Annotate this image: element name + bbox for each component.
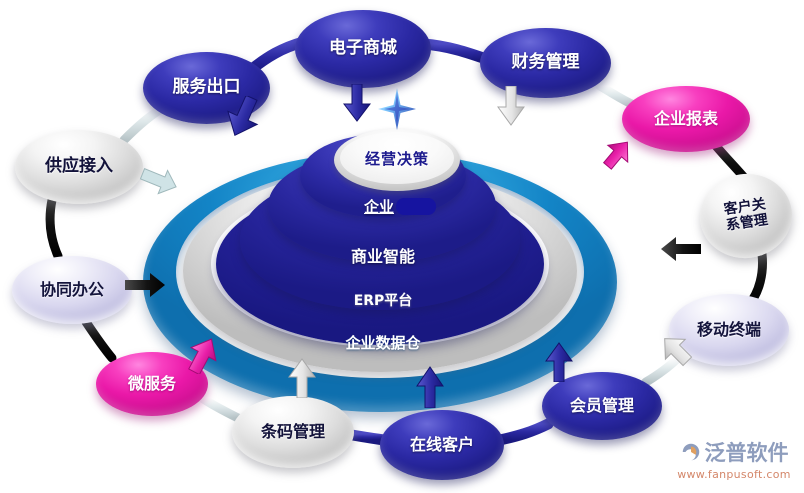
ring-label-enterprise: 企业: [340, 196, 484, 217]
ring-label-enterprise-text: 企业: [364, 198, 394, 216]
arrow-up-icon-from-huiyuanguanli: [545, 342, 573, 382]
watermark: 泛普软件 www.fanpusoft.com: [668, 432, 800, 486]
fanpu-swirl-logo-icon: [680, 441, 702, 463]
arrow-right-icon-from-gongyingjieru: [140, 166, 178, 196]
node-label: 服务出口: [173, 78, 241, 97]
arrow-down-icon-from-dianzishangcheng: [343, 84, 371, 122]
arrow-up-icon-from-zaixiankehu: [416, 366, 444, 408]
watermark-url: www.fanpusoft.com: [677, 468, 791, 481]
arrow-down-left-icon-from-qiyebaobiao: [600, 136, 634, 170]
node-label: 供应接入: [45, 157, 113, 176]
ring-label-bi: 商业智能: [300, 243, 466, 267]
ring-label-erp: ERP平台: [300, 290, 466, 310]
node-label: 电子商城: [329, 39, 397, 58]
node-huiyuanguanli[interactable]: 会员管理: [542, 372, 662, 440]
node-dianzishangcheng[interactable]: 电子商城: [295, 10, 431, 88]
node-label: 会员管理: [570, 397, 634, 415]
node-qiyebaobiao[interactable]: 企业报表: [622, 86, 750, 152]
ring-label-data-warehouse: 企业数据仓: [295, 332, 471, 353]
arrow-left-icon-from-kehuguanxiguanli: [660, 236, 702, 262]
node-label: 企业报表: [654, 110, 718, 128]
redaction-block: [396, 198, 436, 215]
node-label: 财务管理: [512, 53, 580, 72]
arrow-up-right-icon-from-weifuwu: [186, 336, 220, 374]
node-label: 微服务: [128, 375, 176, 393]
arrow-up-left-icon-from-yidongzhongduan: [658, 332, 694, 368]
node-gongyingjieru[interactable]: 供应接入: [15, 130, 143, 204]
node-label: 客户关 系管理: [723, 198, 769, 235]
node-label: 移动终端: [697, 321, 761, 339]
core-label: 经营决策: [365, 148, 429, 169]
node-label: 条码管理: [261, 423, 325, 441]
arrow-right-icon-from-xietongbangong: [124, 272, 166, 298]
core-disc: 经营决策: [340, 132, 454, 184]
arrow-down-icon-from-fuwuchukou: [226, 96, 260, 138]
arrow-down-icon-from-caiwuguanli: [497, 86, 525, 126]
node-tiaomaguanli[interactable]: 条码管理: [232, 396, 354, 468]
node-label: 协同办公: [40, 281, 104, 299]
watermark-brand: 泛普软件: [705, 437, 789, 467]
node-zaixiankehu[interactable]: 在线客户: [380, 410, 504, 480]
arrow-up-icon-from-tiaomaguanli: [288, 358, 316, 398]
node-label: 在线客户: [410, 436, 474, 454]
diagram-canvas: 经营决策 企业 商业智能 ERP平台 企业数据仓 电子商城 服务出口 财务管理 …: [0, 0, 804, 493]
watermark-brand-row: 泛普软件: [680, 437, 789, 467]
four-point-star-icon: [378, 88, 416, 130]
node-xietongbangong[interactable]: 协同办公: [12, 256, 132, 324]
